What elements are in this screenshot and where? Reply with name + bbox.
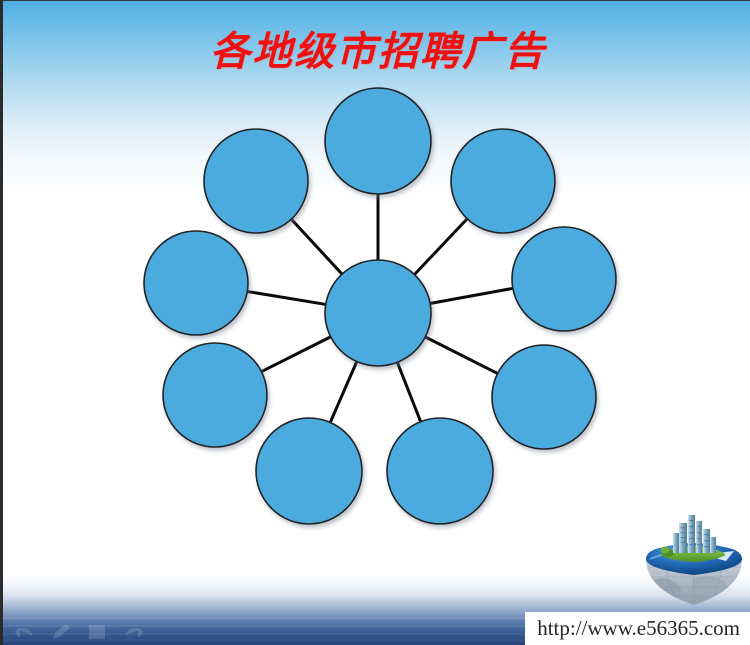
diagram-node-top-shape[interactable] <box>325 88 431 194</box>
diagram-connector-bottom-right <box>397 361 421 422</box>
diagram-node-top[interactable] <box>325 88 431 194</box>
diagram-connector-left-lower <box>261 336 332 372</box>
diagram-connector-left-upper <box>246 291 326 304</box>
globe-city-skyline <box>673 515 716 553</box>
diagram-connector-top-right <box>414 218 468 275</box>
diagram-connector-right-upper <box>429 288 514 303</box>
diagram-node-bottom-left[interactable] <box>256 418 362 524</box>
diagram-node-top-right-shape[interactable] <box>451 129 555 233</box>
diagram-node-right-lower-shape[interactable] <box>492 345 596 449</box>
diagram-node-bottom-left-shape[interactable] <box>256 418 362 524</box>
diagram-connector-top-left <box>291 218 343 274</box>
diagram-node-top-left-shape[interactable] <box>204 129 308 233</box>
diagram-node-top-right[interactable] <box>451 129 555 233</box>
slide-canvas: 各地级市招聘广告 <box>0 0 750 645</box>
diagram-node-right-upper[interactable] <box>512 227 616 331</box>
diagram-node-left-lower[interactable] <box>163 343 267 447</box>
diagram-connector-right-lower <box>424 336 498 373</box>
diagram-node-bottom-right-shape[interactable] <box>387 418 493 524</box>
diagram-node-left-lower-shape[interactable] <box>163 343 267 447</box>
diagram-node-right-upper-shape[interactable] <box>512 227 616 331</box>
diagram-center-node[interactable] <box>325 260 431 366</box>
diagram-node-left-upper-shape[interactable] <box>144 231 248 335</box>
diagram-nodes <box>144 88 616 524</box>
diagram-connector-bottom-left <box>330 361 357 424</box>
diagram-center-node-shape[interactable] <box>325 260 431 366</box>
diagram-node-bottom-right[interactable] <box>387 418 493 524</box>
diagram-node-top-left[interactable] <box>204 129 308 233</box>
diagram-node-right-lower[interactable] <box>492 345 596 449</box>
watermark-url: http://www.e56365.com <box>525 612 750 645</box>
diagram-node-left-upper[interactable] <box>144 231 248 335</box>
globe-city-logo <box>638 509 750 609</box>
